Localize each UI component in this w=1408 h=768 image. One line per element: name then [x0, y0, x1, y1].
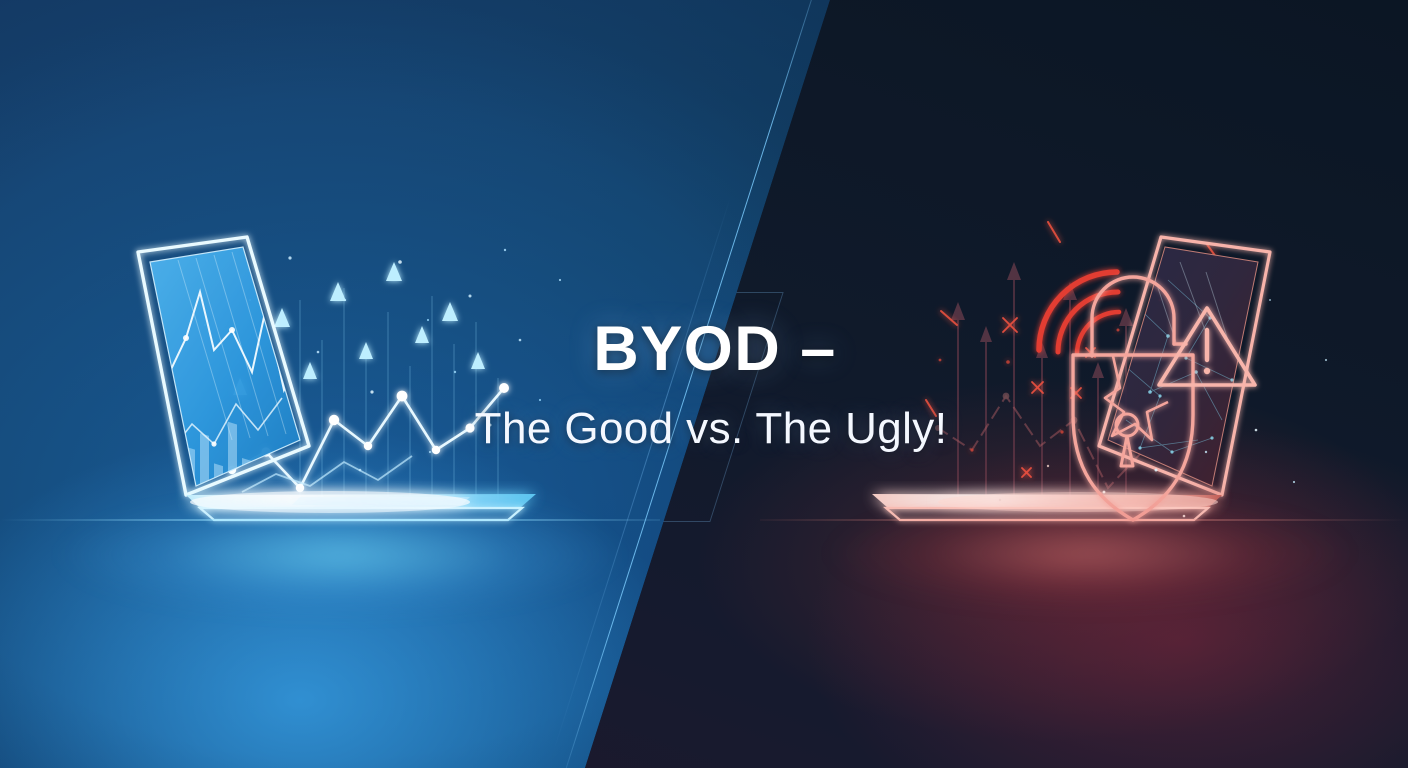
right-floor-glow [830, 498, 1350, 608]
left-horizon-line [0, 519, 660, 521]
right-panel-artwork [0, 0, 1408, 768]
dim-arrow-icon [951, 262, 1133, 498]
left-floor-glow [60, 495, 620, 615]
hero-banner: BYOD – The Good vs. The Ugly! [0, 0, 1408, 768]
right-horizon-line [760, 519, 1408, 521]
